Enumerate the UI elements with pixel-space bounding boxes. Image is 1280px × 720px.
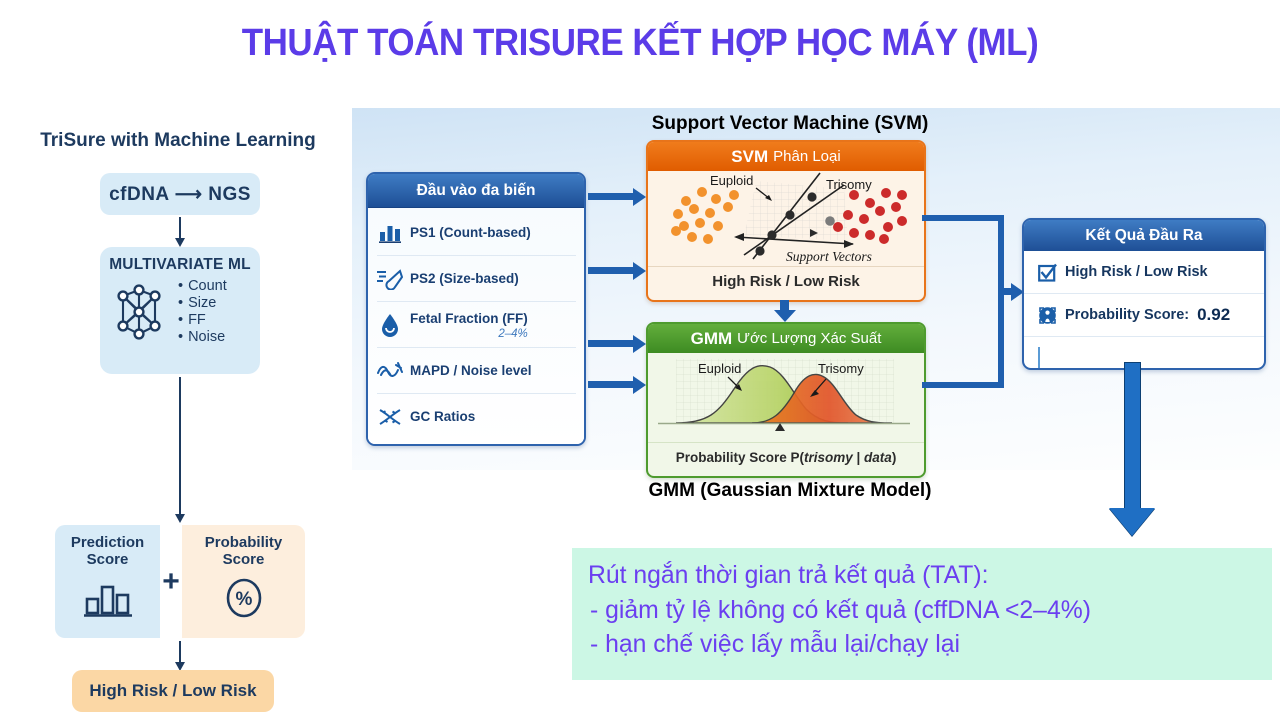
output-probability-value: 0.92 xyxy=(1197,305,1230,325)
neural-network-icon xyxy=(110,281,168,343)
output-card-header: Kết Quả Đầu Ra xyxy=(1024,220,1264,251)
input-row-label: MAPD / Noise level xyxy=(410,363,532,379)
arrow-scores-to-risk xyxy=(179,641,181,663)
gmm-card-footer: Probability Score P(trisomy | data) xyxy=(648,442,924,473)
gmm-footer-sep: | xyxy=(853,450,864,465)
gmm-card-header: GMM Ước Lượng Xác Suất xyxy=(648,324,924,353)
input-row-label: Fetal Fraction (FF) xyxy=(410,311,528,326)
arrow-input-to-svm-1 xyxy=(588,193,634,200)
bar-chart-icon xyxy=(55,569,160,619)
probability-score-line1: Probability xyxy=(182,535,305,552)
output-row-risk: High Risk / Low Risk xyxy=(1024,251,1264,294)
svm-header-strong: SVM xyxy=(731,147,768,167)
left-risk-result-label: High Risk / Low Risk xyxy=(89,681,256,701)
connector-svm-out-horizontal xyxy=(922,215,1004,221)
input-row-sublabel: 2–4% xyxy=(410,328,528,340)
cfdna-ngs-label: cfDNA ⟶ NGS xyxy=(109,183,251,206)
percent-circle-icon: % xyxy=(182,569,305,619)
input-row-label: GC Ratios xyxy=(410,409,475,425)
svm-scatter-plot: Euploid Trisomy Support Vectors xyxy=(648,171,924,266)
arrow-input-to-gmm-2 xyxy=(588,381,634,388)
gmm-density-plot: Euploid Trisomy xyxy=(648,353,924,442)
input-card-header: Đầu vào đa biến xyxy=(368,174,584,208)
output-probability-label: Probability Score: xyxy=(1065,307,1189,323)
left-risk-result-box: High Risk / Low Risk xyxy=(72,670,274,712)
arrow-merge-to-output xyxy=(998,288,1012,295)
multivariate-ml-box: MULTIVARIATE ML Count xyxy=(100,247,260,374)
gmm-footer-italic2: data xyxy=(864,450,892,465)
input-row-ps1: PS1 (Count-based) xyxy=(377,210,576,256)
ml-feature-item: Size xyxy=(178,295,227,312)
big-down-arrow-head xyxy=(1109,508,1155,536)
target-person-icon xyxy=(1038,306,1057,325)
input-row-ff: Fetal Fraction (FF) 2–4% xyxy=(377,302,576,348)
ml-feature-item: Count xyxy=(178,278,227,295)
page-title: THUẬT TOÁN TRISURE KẾT HỢP HỌC MÁY (ML) xyxy=(51,22,1229,65)
gmm-header-strong: GMM xyxy=(691,329,733,349)
note-line-2: - giảm tỷ lệ không có kết quả (cffDNA <2… xyxy=(588,593,1251,628)
svm-label-euploid: Euploid xyxy=(710,173,753,188)
left-flow-panel: TriSure with Machine Learning cfDNA ⟶ NG… xyxy=(10,125,340,595)
note-line-3: - hạn chế việc lấy mẫu lại/chạy lại xyxy=(588,627,1251,662)
arrow-ml-to-scores xyxy=(179,377,181,515)
svm-card: SVM Phân Loại xyxy=(646,140,926,302)
connector-vertical-merge xyxy=(998,215,1004,388)
droplet-icon xyxy=(377,313,403,337)
gmm-label-euploid: Euploid xyxy=(698,361,741,376)
prediction-score-line1: Prediction xyxy=(55,535,160,552)
probability-score-box: Probability Score % xyxy=(182,525,305,638)
left-panel-heading: TriSure with Machine Learning xyxy=(28,130,328,152)
gmm-header-rest: Ước Lượng Xác Suất xyxy=(737,330,881,347)
svm-label-support-vectors: Support Vectors xyxy=(786,249,872,264)
plus-sign: + xyxy=(160,568,182,596)
input-row-mapd: MAPD / Noise level xyxy=(377,348,576,394)
probability-score-line2: Score xyxy=(182,552,305,569)
output-risk-label: High Risk / Low Risk xyxy=(1065,264,1208,280)
input-row-label: PS1 (Count-based) xyxy=(410,225,531,241)
probability-score-title: Probability Score xyxy=(182,525,305,569)
checkbox-checked-icon xyxy=(1038,263,1057,282)
input-row-ps2: PS2 (Size-based) xyxy=(377,256,576,302)
output-result-card: Kết Quả Đầu Ra High Risk / Low Risk Prob… xyxy=(1022,218,1266,370)
svg-text:%: % xyxy=(235,589,252,610)
big-down-arrow-shaft xyxy=(1124,362,1141,512)
multivariate-input-card: Đầu vào đa biến PS1 (Count-based) xyxy=(366,172,586,446)
connector-gmm-out-horizontal xyxy=(922,382,1004,388)
gmm-footer-plain: Probability Score P( xyxy=(676,450,804,465)
note-line-1: Rút ngắn thời gian trả kết quả (TAT): xyxy=(588,558,1251,593)
svm-header-rest: Phân Loại xyxy=(773,148,841,165)
gmm-footer-italic1: trisomy xyxy=(804,450,853,465)
svm-label-trisomy: Trisomy xyxy=(826,177,872,192)
pipette-icon xyxy=(377,267,403,291)
input-card-list: PS1 (Count-based) PS2 (Size-based) xyxy=(368,208,584,445)
cfdna-ngs-box: cfDNA ⟶ NGS xyxy=(100,173,260,215)
waveform-dna-icon xyxy=(377,359,403,383)
dna-helix-icon xyxy=(377,405,403,429)
gmm-label-trisomy: Trisomy xyxy=(818,361,864,376)
arrow-cfdna-to-ml xyxy=(179,217,181,239)
input-row-label: PS2 (Size-based) xyxy=(410,271,519,287)
benefits-note-box: Rút ngắn thời gian trả kết quả (TAT): - … xyxy=(572,548,1272,680)
arrow-svm-to-gmm xyxy=(780,300,789,311)
text-caret xyxy=(1038,347,1040,369)
bar-chart-icon xyxy=(377,221,403,245)
arrow-input-to-svm-2 xyxy=(588,267,634,274)
prediction-score-box: Prediction Score xyxy=(55,525,160,638)
arrow-input-to-gmm-1 xyxy=(588,340,634,347)
gmm-footer-end: ) xyxy=(892,450,897,465)
gmm-card: GMM Ước Lượng Xác Suất Euploid xyxy=(646,322,926,478)
input-row-gc: GC Ratios xyxy=(377,394,576,439)
prediction-score-title: Prediction Score xyxy=(55,525,160,569)
prediction-score-line2: Score xyxy=(55,552,160,569)
input-row-ff-text: Fetal Fraction (FF) 2–4% xyxy=(410,310,528,340)
ml-feature-item: Noise xyxy=(178,329,227,346)
output-row-probability: Probability Score: 0.92 xyxy=(1024,294,1264,337)
multivariate-ml-feature-list: Count Size FF Noise xyxy=(178,278,227,346)
svm-figure-caption: Support Vector Machine (SVM) xyxy=(600,113,980,135)
svm-card-footer: High Risk / Low Risk xyxy=(648,266,924,297)
gmm-figure-caption: GMM (Gaussian Mixture Model) xyxy=(590,480,990,502)
multivariate-ml-title: MULTIVARIATE ML xyxy=(100,247,260,274)
output-row-blank xyxy=(1024,337,1264,370)
svm-card-header: SVM Phân Loại xyxy=(648,142,924,171)
ml-feature-item: FF xyxy=(178,312,227,329)
